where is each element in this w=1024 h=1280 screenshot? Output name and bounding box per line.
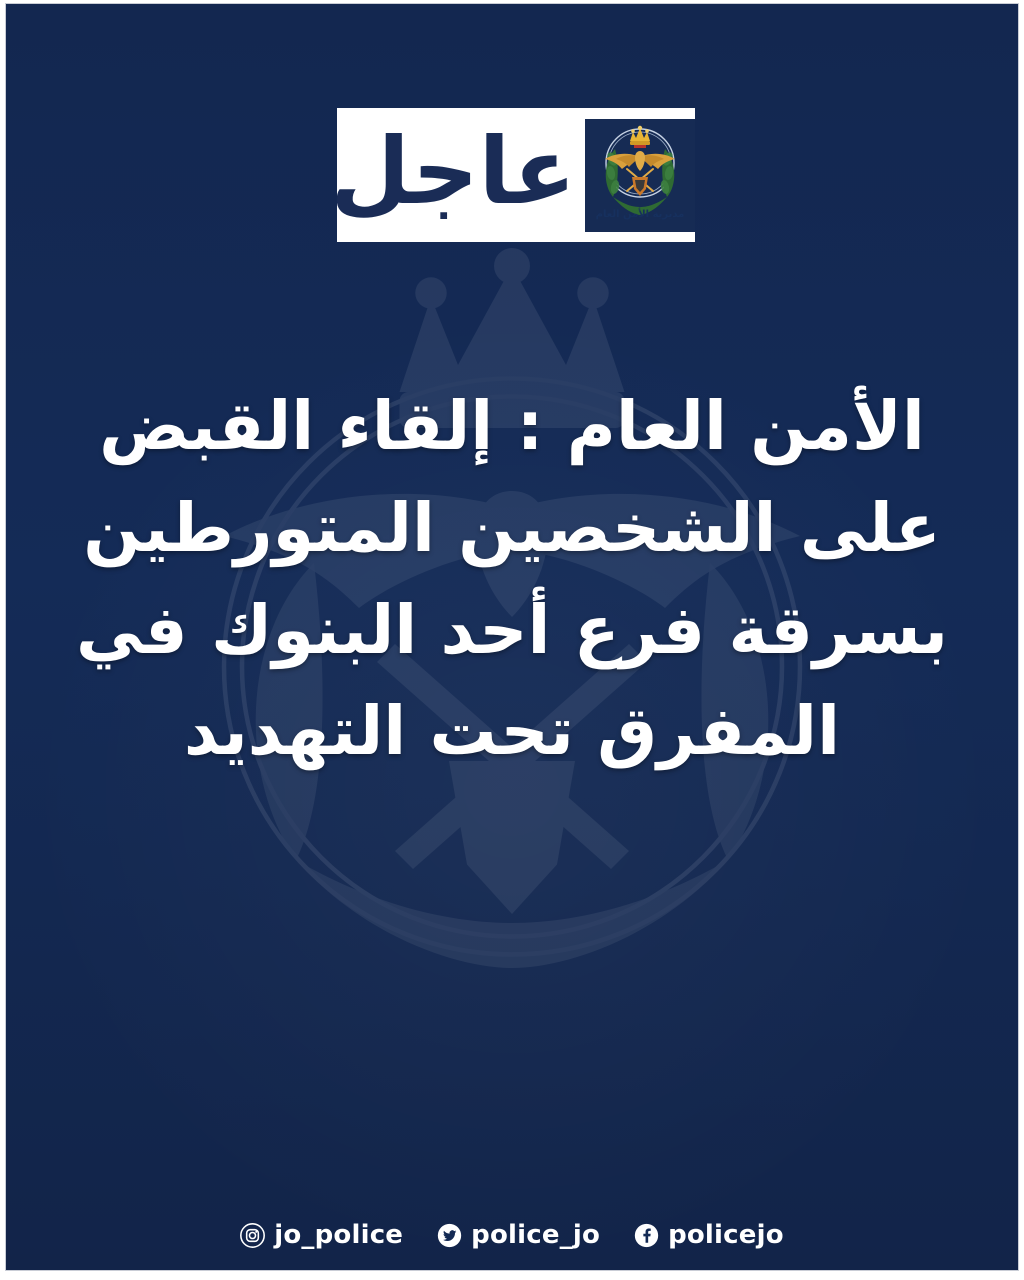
social-account-twitter[interactable]: police_jo	[437, 1222, 600, 1248]
headline-text: الأمن العام : إلقاء القبض على الشخصين ال…	[48, 376, 976, 783]
social-footer: policejo police_jo jo_police	[6, 1222, 1018, 1248]
poster-root: مديرية الأمن العام عاجل الأمن العام : إل…	[0, 0, 1024, 1280]
instagram-handle: jo_police	[274, 1222, 403, 1248]
facebook-handle: policejo	[668, 1222, 784, 1248]
social-account-instagram[interactable]: jo_police	[240, 1222, 403, 1248]
breaking-news-label: عاجل	[330, 128, 580, 221]
twitter-icon[interactable]	[437, 1223, 462, 1248]
poster-panel: مديرية الأمن العام عاجل الأمن العام : إل…	[6, 4, 1018, 1270]
headline-line-1: الأمن العام : إلقاء القبض	[48, 376, 976, 478]
social-account-facebook[interactable]: policejo	[634, 1222, 784, 1248]
headline-line-4: المفرق تحت التهديد	[48, 681, 976, 783]
twitter-handle: police_jo	[471, 1222, 600, 1248]
emblem-caption: مديرية الأمن العام	[596, 207, 685, 220]
breaking-news-banner: مديرية الأمن العام عاجل	[337, 108, 695, 242]
instagram-icon[interactable]	[240, 1223, 265, 1248]
psd-emblem-logo: مديرية الأمن العام	[585, 119, 695, 232]
headline-line-2: على الشخصين المتورطين	[48, 478, 976, 580]
headline-line-3: بسرقة فرع أحد البنوك في	[48, 580, 976, 682]
facebook-icon[interactable]	[634, 1223, 659, 1248]
